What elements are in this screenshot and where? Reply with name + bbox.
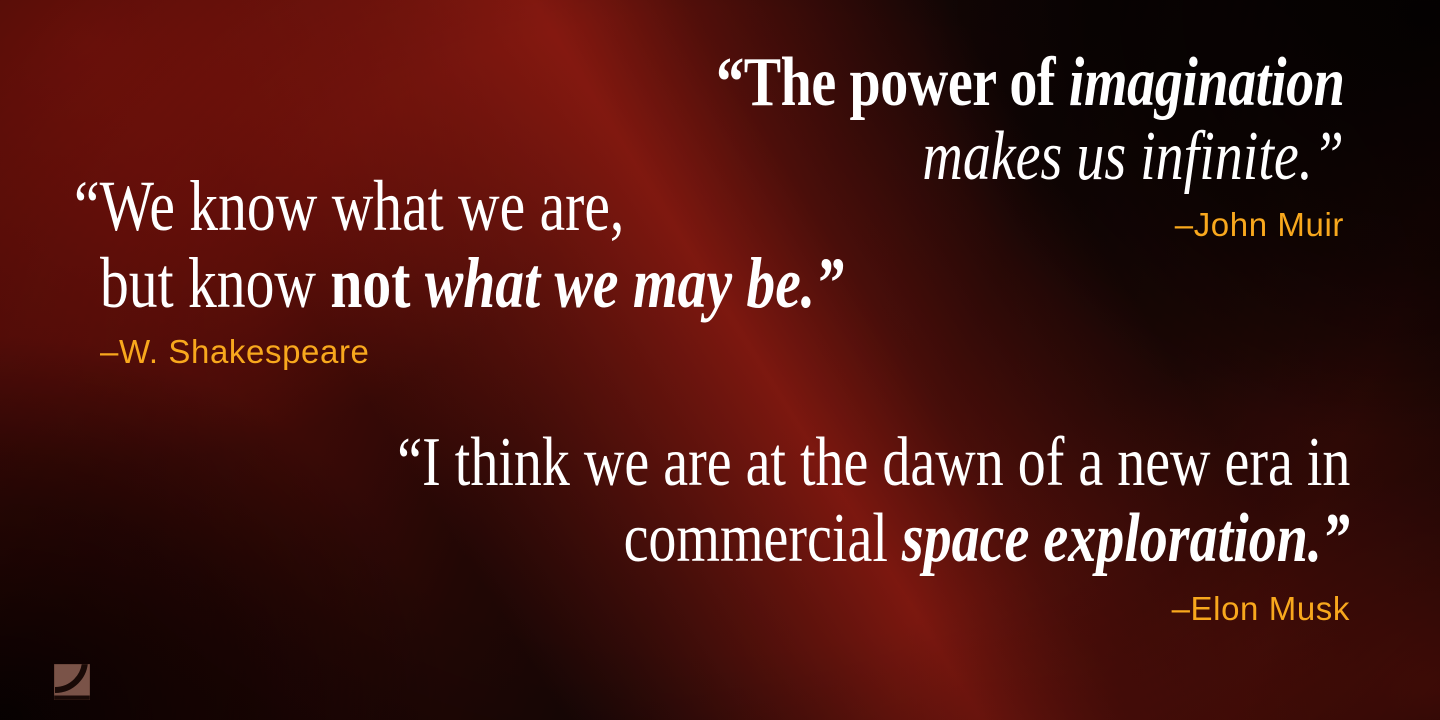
quote-musk-close-quote: ”	[1322, 500, 1350, 577]
quote-shakespeare-line-2: but know not what we may be.”	[74, 247, 1030, 319]
quote-muir-open-quote: “	[716, 44, 744, 121]
quote-musk-line1-plain: I think we are at the dawn of a new era …	[422, 424, 1350, 501]
quote-musk-line-1: “I think we are at the dawn of a new era…	[159, 428, 1350, 498]
attribution-musk: –Elon Musk	[159, 590, 1350, 628]
brand-logo-icon	[54, 664, 90, 700]
quote-block-musk: “I think we are at the dawn of a new era…	[159, 428, 1350, 628]
quote-muir-line-1: “The power of imagination	[559, 48, 1344, 118]
attribution-shakespeare: –W. Shakespeare	[74, 333, 1030, 371]
slide-canvas: “The power of imagination makes us infin…	[0, 0, 1440, 720]
quote-shakespeare-line1-plain: We know what we are,	[100, 166, 625, 246]
quote-shakespeare-close-quote: ”	[815, 243, 844, 323]
quote-block-shakespeare: “We know what we are, but know not what …	[74, 170, 1030, 371]
quote-musk-open-quote: “	[397, 424, 422, 501]
quote-muir-close-quote: ”	[1313, 118, 1344, 195]
quote-shakespeare-line2-emphasis: what we may be.	[425, 243, 815, 323]
quote-shakespeare-line2-plain: but know	[100, 243, 330, 323]
quote-shakespeare-line-1: “We know what we are,	[74, 170, 1030, 242]
quote-musk-line-2: commercial space exploration.”	[159, 504, 1350, 574]
quote-muir-line1-emphasis: imagination	[1068, 44, 1344, 121]
quote-shakespeare-line2-strong: not	[330, 243, 424, 323]
quote-muir-line1-plain: The power of	[743, 44, 1068, 121]
quote-musk-line2-emphasis: space exploration.	[902, 500, 1322, 577]
quote-shakespeare-open-quote: “	[74, 166, 100, 246]
quote-musk-line2-plain: commercial	[624, 500, 902, 577]
